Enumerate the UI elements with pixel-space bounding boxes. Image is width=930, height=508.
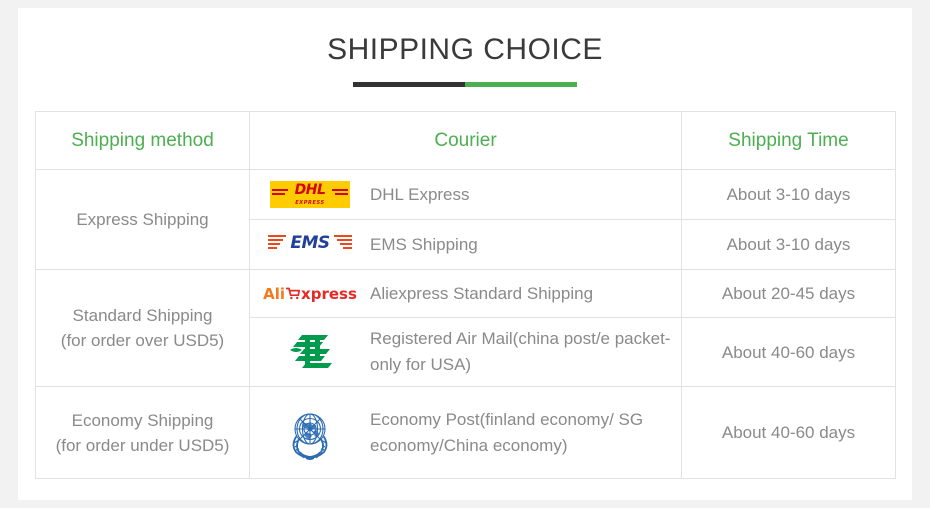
time-cell-china-post: About 40-60 days — [682, 318, 896, 387]
method-label-line1: Express Shipping — [44, 207, 241, 232]
aliexpress-logo: Ali xpress — [263, 285, 357, 303]
china-post-logo — [288, 330, 332, 374]
header-shipping-method: Shipping method — [36, 112, 250, 170]
table-header: Shipping method Courier Shipping Time — [36, 112, 896, 170]
method-cell-standard: Standard Shipping (for order over USD5) — [36, 270, 250, 387]
method-cell-economy: Economy Shipping (for order under USD5) — [36, 387, 250, 479]
united-nations-logo-slot — [264, 405, 356, 461]
table-row: Economy Shipping (for order under USD5) — [36, 387, 896, 479]
courier-cell-dhl: DHL EXPRESS DHL Express — [250, 170, 682, 220]
method-label-line2: (for order under USD5) — [44, 433, 241, 458]
ems-logo-wordmark: EMS — [268, 233, 352, 253]
method-label-line2: (for order over USD5) — [44, 328, 241, 353]
ems-logo-slot: EMS — [264, 230, 356, 260]
header-courier: Courier — [250, 112, 682, 170]
courier-cell-aliexpress: Ali xpress — [250, 270, 682, 318]
method-cell-express: Express Shipping — [36, 170, 250, 270]
divider-segment-dark — [353, 82, 465, 87]
courier-name-china-post: Registered Air Mail(china post/e packet-… — [370, 326, 671, 378]
china-post-logo-slot — [264, 330, 356, 374]
shipping-table: Shipping method Courier Shipping Time Ex… — [35, 111, 896, 479]
page-title: SHIPPING CHOICE — [18, 32, 912, 68]
header-shipping-time: Shipping Time — [682, 112, 896, 170]
table-row: Standard Shipping (for order over USD5) … — [36, 270, 896, 318]
aliexpress-logo-ali-text: Ali — [263, 285, 285, 303]
aliexpress-logo-xpress-text: xpress — [301, 285, 357, 303]
table-header-row: Shipping method Courier Shipping Time — [36, 112, 896, 170]
courier-name-ems: EMS Shipping — [370, 232, 478, 258]
aliexpress-logo-slot: Ali xpress — [264, 285, 356, 303]
courier-cell-china-post: Registered Air Mail(china post/e packet-… — [250, 318, 682, 387]
method-label-line1: Economy Shipping — [44, 408, 241, 433]
courier-name-aliexpress: Aliexpress Standard Shipping — [370, 281, 593, 307]
dhl-logo: DHL EXPRESS — [270, 181, 350, 208]
dhl-logo-subtext: EXPRESS — [270, 200, 350, 206]
title-divider — [353, 82, 577, 87]
shipping-table-wrapper: Shipping method Courier Shipping Time Ex… — [35, 111, 895, 479]
table-body: Express Shipping DHL — [36, 170, 896, 479]
divider-segment-green — [465, 82, 577, 87]
united-nations-logo — [282, 405, 338, 461]
courier-name-economy-post: Economy Post(finland economy/ SG economy… — [370, 407, 671, 459]
dhl-logo-slot: DHL EXPRESS — [264, 181, 356, 208]
ems-logo: EMS — [268, 230, 352, 260]
method-label-line1: Standard Shipping — [44, 303, 241, 328]
table-row: Express Shipping DHL — [36, 170, 896, 220]
courier-cell-economy-post: Economy Post(finland economy/ SG economy… — [250, 387, 682, 479]
time-cell-ems: About 3-10 days — [682, 220, 896, 270]
time-cell-economy-post: About 40-60 days — [682, 387, 896, 479]
shopping-cart-icon — [286, 287, 300, 300]
courier-name-dhl: DHL Express — [370, 182, 470, 208]
dhl-logo-wordmark: DHL — [270, 182, 350, 198]
time-cell-dhl: About 3-10 days — [682, 170, 896, 220]
time-cell-aliexpress: About 20-45 days — [682, 270, 896, 318]
courier-cell-ems: EMS EMS Shipping — [250, 220, 682, 270]
title-block: SHIPPING CHOICE — [18, 32, 912, 87]
shipping-info-card: SHIPPING CHOICE Shipping method Courier … — [18, 8, 912, 500]
